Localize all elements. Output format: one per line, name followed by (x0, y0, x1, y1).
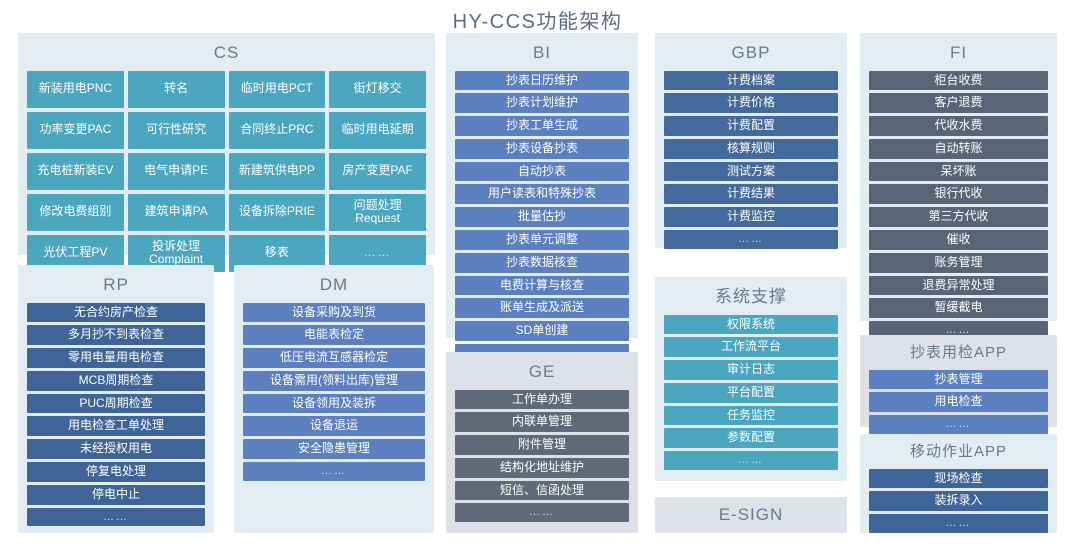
panel-ge: GE 工作单办理内联单管理附件管理结构化地址维护短信、信函处理…… (446, 352, 638, 533)
meter-app-item[interactable]: 用电检查 (869, 392, 1048, 412)
ge-item[interactable]: 附件管理 (455, 435, 629, 455)
rp-item[interactable]: 停复电处理 (27, 462, 205, 482)
rp-item[interactable]: 零用电量用电检查 (27, 348, 205, 368)
page-title: HY-CCS功能架构 (0, 5, 1075, 34)
dm-item[interactable]: 电能表检定 (243, 325, 425, 345)
system-support-item[interactable]: …… (664, 451, 838, 470)
bi-item[interactable]: 账单生成及派送 (455, 298, 629, 318)
panel-mobile-app-items: 现场检查装拆录入…… (869, 469, 1048, 533)
meter-app-item[interactable]: 抄表管理 (869, 370, 1048, 390)
rp-item[interactable]: PUC周期检查 (27, 394, 205, 414)
panel-cs: CS 新装用电PNC转名临时用电PCT街灯移交功率变更PAC可行性研究合同终止P… (18, 33, 435, 255)
bi-item[interactable]: 批量估抄 (455, 207, 629, 227)
bi-item[interactable]: 抄表单元调整 (455, 230, 629, 250)
panel-mobile-app: 移动作业APP 现场检查装拆录入…… (860, 434, 1057, 533)
fi-item[interactable]: 催收 (869, 230, 1048, 250)
dm-item[interactable]: 设备领用及装拆 (243, 394, 425, 414)
panel-meter-app: 抄表用检APP 抄表管理用电检查…… (860, 335, 1057, 427)
fi-item[interactable]: 代收水费 (869, 116, 1048, 136)
panel-ge-items: 工作单办理内联单管理附件管理结构化地址维护短信、信函处理…… (455, 390, 629, 525)
panel-cs-title: CS (27, 39, 426, 71)
system-support-item[interactable]: 工作流平台 (664, 337, 838, 357)
fi-item[interactable]: 银行代收 (869, 184, 1048, 204)
system-support-item[interactable]: 参数配置 (664, 428, 838, 448)
fi-item[interactable]: 柜台收费 (869, 71, 1048, 91)
panel-dm: DM 设备采购及到货电能表检定低压电流互感器检定设备需用(领料出库)管理设备领用… (234, 265, 434, 533)
dm-item[interactable]: 设备需用(领料出库)管理 (243, 371, 425, 391)
cs-cell[interactable]: 房产变更PAF (329, 153, 426, 190)
cs-cell[interactable]: 电气申请PE (128, 153, 225, 190)
ge-item[interactable]: 结构化地址维护 (455, 458, 629, 478)
system-support-item[interactable]: 权限系统 (664, 315, 838, 335)
diagram-root: HY-CCS功能架构 CS 新装用电PNC转名临时用电PCT街灯移交功率变更PA… (0, 0, 1075, 558)
panel-esign-title: E-SIGN (719, 505, 784, 525)
rp-item[interactable]: 多月抄不到表检查 (27, 325, 205, 345)
rp-item[interactable]: 用电检查工单处理 (27, 416, 205, 436)
panel-rp-items: 无合约房产检查多月抄不到表检查零用电量用电检查MCB周期检查PUC周期检查用电检… (27, 303, 205, 527)
bi-item[interactable]: 抄表数据核查 (455, 253, 629, 273)
bi-item[interactable]: 用户读表和特殊抄表 (455, 184, 629, 204)
bi-item[interactable]: SD单创建 (455, 321, 629, 341)
ge-item[interactable]: 工作单办理 (455, 390, 629, 410)
bi-item[interactable]: 抄表设备抄表 (455, 139, 629, 159)
panel-system-support-items: 权限系统工作流平台审计日志平台配置任务监控参数配置…… (664, 315, 838, 473)
dm-item[interactable]: …… (243, 462, 425, 481)
panel-gbp-items: 计费档案计费价格计费配置核算规则测试方案计费结果计费监控…… (664, 71, 838, 249)
dm-item[interactable]: 设备退运 (243, 416, 425, 436)
bi-item[interactable]: 抄表工单生成 (455, 116, 629, 136)
fi-item[interactable]: 第三方代收 (869, 207, 1048, 227)
bi-item[interactable]: 抄表计划维护 (455, 93, 629, 113)
cs-cell[interactable]: 功率变更PAC (27, 112, 124, 149)
ge-item[interactable]: …… (455, 503, 629, 522)
system-support-item[interactable]: 任务监控 (664, 406, 838, 426)
panel-dm-title: DM (243, 271, 425, 303)
cs-cell[interactable]: 修改电费组别 (27, 194, 124, 231)
rp-item[interactable]: 无合约房产检查 (27, 303, 205, 323)
gbp-item[interactable]: 核算规则 (664, 139, 838, 159)
dm-item[interactable]: 设备采购及到货 (243, 303, 425, 323)
mobile-app-item[interactable]: …… (869, 514, 1048, 533)
cs-cell[interactable]: 街灯移交 (329, 71, 426, 108)
ge-item[interactable]: 短信、信函处理 (455, 481, 629, 501)
cs-cell[interactable]: 新装用电PNC (27, 71, 124, 108)
panel-meter-app-title: 抄表用检APP (869, 341, 1048, 370)
cs-cell[interactable]: 转名 (128, 71, 225, 108)
panel-system-support: 系统支撑 权限系统工作流平台审计日志平台配置任务监控参数配置…… (655, 277, 847, 481)
bi-item[interactable]: 自动抄表 (455, 162, 629, 182)
panel-gbp: GBP 计费档案计费价格计费配置核算规则测试方案计费结果计费监控…… (655, 33, 847, 248)
gbp-item[interactable]: 计费结果 (664, 184, 838, 204)
dm-item[interactable]: 安全隐患管理 (243, 439, 425, 459)
cs-cell[interactable]: 可行性研究 (128, 112, 225, 149)
panel-ge-title: GE (455, 358, 629, 390)
cs-cell[interactable]: 问题处理 Request (329, 194, 426, 231)
system-support-item[interactable]: 平台配置 (664, 383, 838, 403)
fi-item[interactable]: 账务管理 (869, 253, 1048, 273)
dm-item[interactable]: 低压电流互感器检定 (243, 348, 425, 368)
gbp-item[interactable]: …… (664, 230, 838, 249)
mobile-app-item[interactable]: 现场检查 (869, 469, 1048, 489)
meter-app-item[interactable]: …… (869, 415, 1048, 434)
cs-cell[interactable]: 临时用电PCT (229, 71, 326, 108)
panel-bi: BI 抄表日历维护抄表计划维护抄表工单生成抄表设备抄表自动抄表用户读表和特殊抄表… (446, 33, 638, 338)
bi-item[interactable]: 抄表日历维护 (455, 71, 629, 91)
gbp-item[interactable]: 计费监控 (664, 207, 838, 227)
panel-rp-title: RP (27, 271, 205, 303)
panel-mobile-app-title: 移动作业APP (869, 440, 1048, 469)
gbp-item[interactable]: 计费档案 (664, 71, 838, 91)
panel-dm-items: 设备采购及到货电能表检定低压电流互感器检定设备需用(领料出库)管理设备领用及装拆… (243, 303, 425, 525)
panel-fi-title: FI (869, 39, 1048, 71)
cs-cell[interactable]: 充电桩新装EV (27, 153, 124, 190)
panel-bi-title: BI (455, 39, 629, 71)
gbp-item[interactable]: 测试方案 (664, 162, 838, 182)
cs-cell[interactable]: 设备拆除PRIE (229, 194, 326, 231)
panel-fi: FI 柜台收费客户退费代收水费自动转账呆坏账银行代收第三方代收催收账务管理退费异… (860, 33, 1057, 321)
panel-rp: RP 无合约房产检查多月抄不到表检查零用电量用电检查MCB周期检查PUC周期检查… (18, 265, 214, 533)
fi-item[interactable]: 呆坏账 (869, 162, 1048, 182)
rp-item[interactable]: MCB周期检查 (27, 371, 205, 391)
mobile-app-item[interactable]: 装拆录入 (869, 491, 1048, 511)
panel-fi-items: 柜台收费客户退费代收水费自动转账呆坏账银行代收第三方代收催收账务管理退费异常处理… (869, 71, 1048, 340)
panel-gbp-title: GBP (664, 39, 838, 71)
panel-meter-app-items: 抄表管理用电检查…… (869, 370, 1048, 434)
rp-item[interactable]: 停电中止 (27, 485, 205, 505)
cs-cell[interactable]: 临时用电延期 (329, 112, 426, 149)
rp-item[interactable]: …… (27, 508, 205, 527)
panel-system-support-title: 系统支撑 (664, 283, 838, 315)
panel-bi-items: 抄表日历维护抄表计划维护抄表工单生成抄表设备抄表自动抄表用户读表和特殊抄表批量估… (455, 71, 629, 363)
cs-cell[interactable]: 合同终止PRC (229, 112, 326, 149)
fi-item[interactable]: 暂缓截电 (869, 298, 1048, 318)
fi-item[interactable]: 退费异常处理 (869, 276, 1048, 296)
cs-cell[interactable]: 新建筑供电PP (229, 153, 326, 190)
system-support-item[interactable]: 审计日志 (664, 360, 838, 380)
ge-item[interactable]: 内联单管理 (455, 412, 629, 432)
fi-item[interactable]: 客户退费 (869, 93, 1048, 113)
gbp-item[interactable]: 计费价格 (664, 93, 838, 113)
bi-item[interactable]: 电费计算与核查 (455, 276, 629, 296)
rp-item[interactable]: 未经授权用电 (27, 439, 205, 459)
panel-esign: E-SIGN (655, 497, 847, 533)
gbp-item[interactable]: 计费配置 (664, 116, 838, 136)
cs-cell[interactable]: 建筑申请PA (128, 194, 225, 231)
panel-cs-grid: 新装用电PNC转名临时用电PCT街灯移交功率变更PAC可行性研究合同终止PRC临… (27, 71, 426, 272)
fi-item[interactable]: 自动转账 (869, 139, 1048, 159)
